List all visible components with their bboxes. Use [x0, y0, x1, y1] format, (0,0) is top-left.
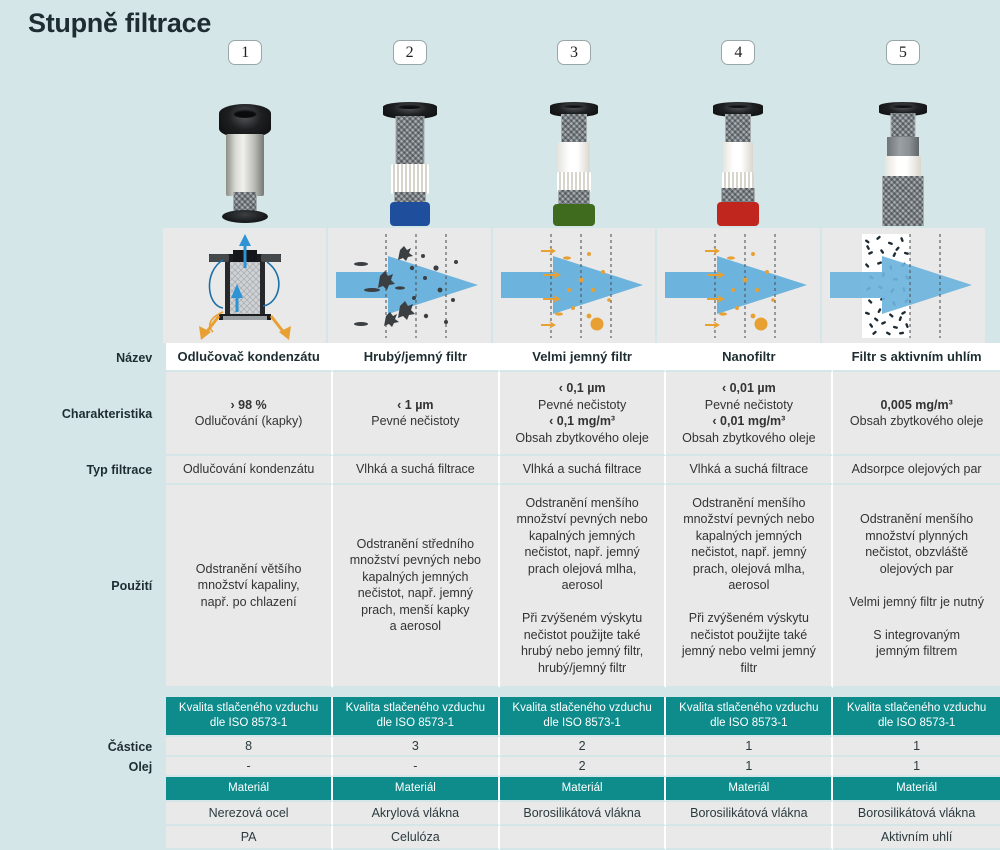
material-cell-1-2: PA — [166, 826, 333, 850]
diagram-cyclone-separator — [163, 228, 328, 343]
particles-cell-5: 1 — [833, 737, 1000, 757]
type-cell-1: Odlučování kondenzátu — [166, 456, 333, 485]
product-image-strip: 1 2 3 — [163, 38, 985, 228]
filter-image-2 — [370, 80, 450, 228]
filter-image-4 — [698, 80, 778, 228]
material-header-5: Materiál — [833, 777, 1000, 802]
type-cell-5: Adsorpce olejových par — [833, 456, 1000, 485]
oil-cell-3: 2 — [500, 757, 667, 777]
char-line: 0,005 mg/m³ — [839, 397, 994, 414]
material-cell-3-2 — [500, 826, 667, 850]
name-cell-4: Nanofiltr — [666, 343, 833, 372]
material-header-3: Materiál — [500, 777, 667, 802]
row-label-usage: Použití — [0, 485, 166, 689]
oil-cell-1: - — [166, 757, 333, 777]
type-cell-4: Vlhká a suchá filtrace — [666, 456, 833, 485]
usage-cell-4: Odstranění menšího množství pevných nebo… — [666, 485, 833, 689]
badge-2: 2 — [393, 40, 427, 65]
table-row-material-1: Nerezová ocel Akrylová vlákna Borosiliká… — [0, 802, 1000, 826]
table-row-usage: Použití Odstranění většího množství kapa… — [0, 485, 1000, 689]
name-cell-1: Odlučovač kondenzátu — [166, 343, 333, 372]
specs-table: Název Odlučovač kondenzátu Hrubý/jemný f… — [0, 343, 1000, 850]
material-cell-3-1: Borosilikátová vlákna — [500, 802, 667, 826]
row-label-particles: Částice — [0, 737, 166, 757]
oil-cell-5: 1 — [833, 757, 1000, 777]
badge-3: 3 — [557, 40, 591, 65]
filter-image-3 — [534, 80, 614, 228]
usage-cell-3: Odstranění menšího množství pevných nebo… — [500, 485, 667, 689]
row-label-empty-quality — [0, 697, 166, 737]
base-color-2 — [390, 202, 430, 226]
row-label-characteristic: Charakteristika — [0, 372, 166, 456]
particles-cell-3: 2 — [500, 737, 667, 757]
usage-cell-2: Odstranění středního množství pevných ne… — [333, 485, 500, 689]
table-row-material-2: PA Celulóza Aktivním uhlí — [0, 826, 1000, 850]
char-line: Pevné nečistoty — [672, 397, 825, 414]
char-line: Obsah zbytkového oleje — [506, 430, 659, 447]
table-row-oil: Olej - - 2 1 1 — [0, 757, 1000, 777]
char-line: ‹ 0,01 µm — [672, 380, 825, 397]
base-color-4 — [717, 202, 759, 226]
table-row-material-header: Materiál Materiál Materiál Materiál Mate… — [0, 777, 1000, 802]
char-line: ‹ 0,1 mg/m³ — [506, 413, 659, 430]
material-header-4: Materiál — [666, 777, 833, 802]
char-line: ‹ 1 µm — [339, 397, 492, 414]
table-row-quality-header: Kvalita stlačeného vzduchu dle ISO 8573-… — [0, 697, 1000, 737]
usage-cell-1: Odstranění většího množství kapaliny, na… — [166, 485, 333, 689]
material-cell-5-1: Borosilikátová vlákna — [833, 802, 1000, 826]
characteristic-cell-3: ‹ 0,1 µm Pevné nečistoty ‹ 0,1 mg/m³ Obs… — [500, 372, 667, 456]
type-cell-2: Vlhká a suchá filtrace — [333, 456, 500, 485]
row-label-empty-material — [0, 777, 166, 802]
name-cell-5: Filtr s aktivním uhlím — [833, 343, 1000, 372]
table-row-characteristic: Charakteristika › 98 % Odlučování (kapky… — [0, 372, 1000, 456]
char-line: Pevné nečistoty — [339, 413, 492, 430]
material-cell-1-1: Nerezová ocel — [166, 802, 333, 826]
quality-header-5: Kvalita stlačeného vzduchu dle ISO 8573-… — [833, 697, 1000, 737]
quality-header-4: Kvalita stlačeného vzduchu dle ISO 8573-… — [666, 697, 833, 737]
row-label-empty-mat1 — [0, 802, 166, 826]
diagram-strip — [163, 228, 985, 343]
characteristic-cell-5: 0,005 mg/m³ Obsah zbytkového oleje — [833, 372, 1000, 456]
type-cell-3: Vlhká a suchá filtrace — [500, 456, 667, 485]
badge-4: 4 — [721, 40, 755, 65]
char-line: Obsah zbytkového oleje — [672, 430, 825, 447]
table-row-particles: Částice 8 3 2 1 1 — [0, 737, 1000, 757]
material-cell-4-1: Borosilikátová vlákna — [666, 802, 833, 826]
page-title: Stupně filtrace — [28, 8, 211, 39]
product-cell-2: 2 — [327, 38, 491, 228]
oil-cell-4: 1 — [666, 757, 833, 777]
filtration-stages-infographic: Stupně filtrace 1 2 3 — [0, 0, 1000, 845]
row-label-name: Název — [0, 343, 166, 372]
char-line: Obsah zbytkového oleje — [839, 413, 994, 430]
char-line: Pevné nečistoty — [506, 397, 659, 414]
product-cell-4: 4 — [656, 38, 820, 228]
particles-cell-2: 3 — [333, 737, 500, 757]
diagram-nano-particles — [657, 228, 822, 343]
name-cell-2: Hrubý/jemný filtr — [333, 343, 500, 372]
row-label-empty-mat2 — [0, 826, 166, 850]
characteristic-cell-2: ‹ 1 µm Pevné nečistoty — [333, 372, 500, 456]
diagram-coarse-particles — [328, 228, 493, 343]
material-cell-2-1: Akrylová vlákna — [333, 802, 500, 826]
quality-header-1: Kvalita stlačeného vzduchu dle ISO 8573-… — [166, 697, 333, 737]
char-line: › 98 % — [172, 397, 325, 414]
filter-image-5 — [863, 80, 943, 228]
filter-image-1 — [205, 80, 285, 228]
characteristic-cell-1: › 98 % Odlučování (kapky) — [166, 372, 333, 456]
quality-header-3: Kvalita stlačeného vzduchu dle ISO 8573-… — [500, 697, 667, 737]
char-line: Odlučování (kapky) — [172, 413, 325, 430]
table-row-name: Název Odlučovač kondenzátu Hrubý/jemný f… — [0, 343, 1000, 372]
particles-cell-4: 1 — [666, 737, 833, 757]
diagram-activated-carbon — [822, 228, 985, 343]
row-label-oil: Olej — [0, 757, 166, 777]
product-cell-3: 3 — [492, 38, 656, 228]
usage-cell-5: Odstranění menšího množství plynných neč… — [833, 485, 1000, 689]
spacer-row — [0, 688, 1000, 697]
row-label-filtration-type: Typ filtrace — [0, 456, 166, 485]
product-cell-1: 1 — [163, 38, 327, 228]
particles-cell-1: 8 — [166, 737, 333, 757]
product-cell-5: 5 — [821, 38, 985, 228]
quality-header-2: Kvalita stlačeného vzduchu dle ISO 8573-… — [333, 697, 500, 737]
badge-1: 1 — [228, 40, 262, 65]
material-header-1: Materiál — [166, 777, 333, 802]
base-color-3 — [553, 204, 595, 226]
char-line: ‹ 0,1 µm — [506, 380, 659, 397]
material-cell-2-2: Celulóza — [333, 826, 500, 850]
diagram-fine-particles — [493, 228, 658, 343]
table-row-filtration-type: Typ filtrace Odlučování kondenzátu Vlhká… — [0, 456, 1000, 485]
material-cell-4-2 — [666, 826, 833, 850]
name-cell-3: Velmi jemný filtr — [500, 343, 667, 372]
oil-cell-2: - — [333, 757, 500, 777]
material-header-2: Materiál — [333, 777, 500, 802]
char-line: ‹ 0,01 mg/m³ — [672, 413, 825, 430]
badge-5: 5 — [886, 40, 920, 65]
material-cell-5-2: Aktivním uhlí — [833, 826, 1000, 850]
characteristic-cell-4: ‹ 0,01 µm Pevné nečistoty ‹ 0,01 mg/m³ O… — [666, 372, 833, 456]
